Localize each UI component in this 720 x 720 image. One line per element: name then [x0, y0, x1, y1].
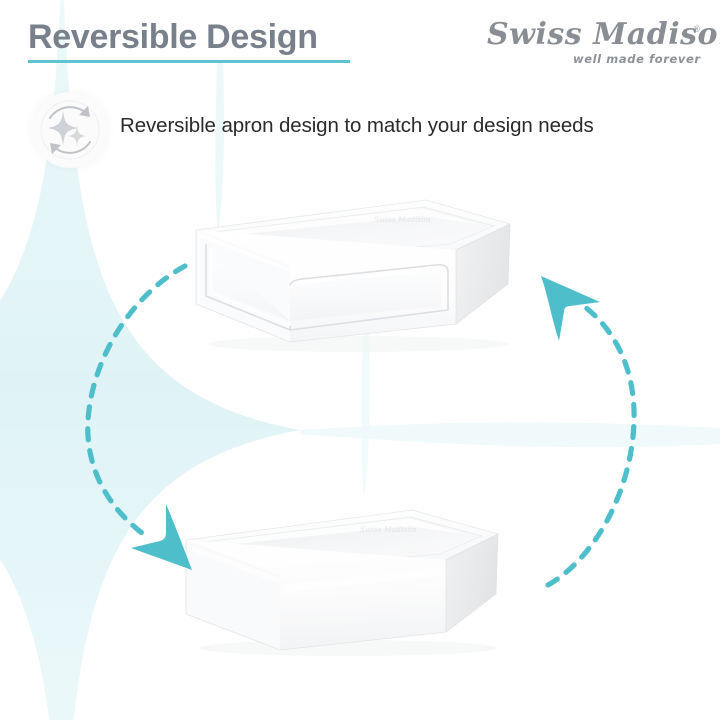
product-feature-card: Reversible Design Swiss Madison ® well m…	[0, 0, 720, 720]
sink-watermark-logo: Swiss Madison	[360, 525, 417, 534]
title-underline-rule	[28, 60, 350, 63]
sink-watermark-logo: Swiss Madison	[374, 215, 431, 224]
registered-mark-icon: ®	[693, 24, 700, 34]
feature-row: Reversible apron design to match your de…	[32, 92, 692, 170]
svg-text:Swiss Madison: Swiss Madison	[360, 525, 417, 534]
brand-name: Swiss Madison	[487, 18, 692, 52]
reversible-rotate-icon	[32, 92, 108, 168]
svg-text:Swiss Madison: Swiss Madison	[374, 215, 431, 224]
feature-icon-badge	[32, 92, 108, 168]
sink-top: Swiss Madison	[178, 192, 518, 357]
feature-description: Reversible apron design to match your de…	[120, 112, 594, 140]
header: Reversible Design Swiss Madison ® well m…	[0, 0, 720, 95]
brand-tagline: well made forever	[573, 52, 701, 66]
page-title: Reversible Design	[28, 17, 318, 57]
sink-bottom: Swiss Madison	[168, 498, 513, 658]
brand-logo: Swiss Madison ® well made forever	[487, 18, 702, 76]
